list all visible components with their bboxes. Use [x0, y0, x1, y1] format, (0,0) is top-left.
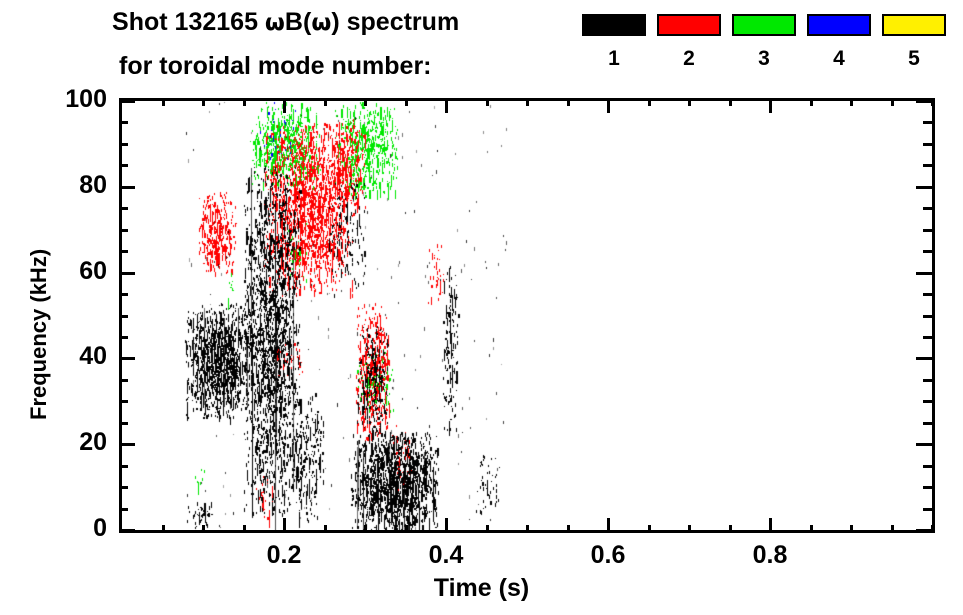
- legend-label-1: 1: [582, 48, 646, 69]
- x-tick-minor-0.35: [405, 525, 408, 533]
- x-tick-top-0.7: [688, 98, 691, 106]
- y-tick-right-30: [923, 400, 932, 403]
- x-tick-top-0.8: [769, 98, 772, 113]
- y-tick-right-100: [916, 100, 932, 103]
- y-tick-right-75: [923, 207, 932, 210]
- y-tick-major-60: [119, 272, 135, 275]
- y-tick-minor-5: [119, 508, 128, 511]
- x-tick-top-0.65: [648, 98, 651, 106]
- legend-item-1[interactable]: 1: [582, 14, 646, 69]
- x-tick-top-0.35: [405, 98, 408, 106]
- legend: 12345: [582, 14, 952, 86]
- x-axis-title: Time (s): [0, 574, 963, 603]
- x-tick-minor-0.1: [202, 525, 205, 533]
- y-tick-right-95: [923, 121, 932, 124]
- x-tick-top-0.05: [162, 98, 165, 106]
- legend-swatch-1: [582, 14, 646, 36]
- x-tick-minor-0.85: [810, 525, 813, 533]
- y-tick-right-5: [923, 508, 932, 511]
- figure-title-line-2: for toroidal mode number:: [119, 52, 432, 81]
- x-tick-top-0.3: [364, 98, 367, 106]
- x-tick-top-0.9: [850, 98, 853, 106]
- x-tick-minor-1: [931, 525, 934, 533]
- x-tick-minor-0.15: [243, 525, 246, 533]
- x-tick-minor-0.3: [364, 525, 367, 533]
- y-tick-minor-65: [119, 250, 128, 253]
- x-tick-minor-0.45: [486, 525, 489, 533]
- y-tick-minor-90: [119, 143, 128, 146]
- x-tick-minor-0.9: [850, 525, 853, 533]
- y-tick-minor-75: [119, 207, 128, 210]
- x-tick-top-0.2: [283, 98, 286, 113]
- y-tick-minor-15: [119, 465, 128, 468]
- legend-swatch-2: [657, 14, 721, 36]
- x-tick-top-0.45: [486, 98, 489, 106]
- y-tick-label-0: 0: [27, 516, 107, 541]
- y-tick-minor-95: [119, 121, 128, 124]
- legend-item-5[interactable]: 5: [882, 14, 946, 69]
- x-tick-major-0.4: [445, 518, 448, 533]
- y-tick-right-85: [923, 164, 932, 167]
- y-tick-right-80: [916, 186, 932, 189]
- y-tick-label-100: 100: [27, 87, 107, 112]
- x-tick-top-1: [931, 98, 934, 106]
- y-tick-right-50: [923, 315, 932, 318]
- y-tick-right-20: [916, 443, 932, 446]
- x-tick-top-0.25: [324, 98, 327, 106]
- spectrogram-figure: Shot 132165 ωB(ω) spectrum for toroidal …: [0, 0, 963, 615]
- plot-frame-right-edge: [932, 98, 935, 533]
- spectrogram-data-area: [122, 101, 932, 530]
- x-tick-top-0.1: [202, 98, 205, 106]
- y-tick-minor-25: [119, 422, 128, 425]
- y-tick-right-35: [923, 379, 932, 382]
- x-tick-top-0.6: [607, 98, 610, 113]
- y-tick-right-70: [923, 229, 932, 232]
- y-tick-right-0: [916, 529, 932, 532]
- figure-title-line-1: Shot 132165 ωB(ω) spectrum: [112, 8, 459, 37]
- legend-label-4: 4: [807, 48, 871, 69]
- x-tick-minor-0.05: [162, 525, 165, 533]
- x-tick-minor-0.25: [324, 525, 327, 533]
- y-tick-minor-30: [119, 400, 128, 403]
- x-tick-label-0.4: 0.4: [401, 543, 491, 568]
- x-tick-top-0.95: [891, 98, 894, 106]
- y-tick-minor-55: [119, 293, 128, 296]
- legend-label-5: 5: [882, 48, 946, 69]
- legend-swatch-5: [882, 14, 946, 36]
- x-tick-label-0.2: 0.2: [239, 543, 329, 568]
- x-tick-label-0.6: 0.6: [563, 543, 653, 568]
- x-tick-minor-0.95: [891, 525, 894, 533]
- y-tick-major-40: [119, 357, 135, 360]
- y-tick-minor-70: [119, 229, 128, 232]
- y-tick-right-90: [923, 143, 932, 146]
- y-tick-right-60: [916, 272, 932, 275]
- spectrogram-canvas: [122, 101, 932, 530]
- y-tick-right-25: [923, 422, 932, 425]
- y-tick-minor-45: [119, 336, 128, 339]
- y-tick-right-55: [923, 293, 932, 296]
- x-tick-top-0.4: [445, 98, 448, 113]
- y-tick-minor-10: [119, 486, 128, 489]
- x-tick-minor-0.5: [526, 525, 529, 533]
- legend-swatch-4: [807, 14, 871, 36]
- legend-label-2: 2: [657, 48, 721, 69]
- y-tick-major-80: [119, 186, 135, 189]
- x-tick-major-0.6: [607, 518, 610, 533]
- legend-item-2[interactable]: 2: [657, 14, 721, 69]
- x-tick-minor-0.7: [688, 525, 691, 533]
- y-tick-major-100: [119, 100, 135, 103]
- y-tick-right-15: [923, 465, 932, 468]
- y-axis-title: Frequency (kHz): [26, 249, 52, 420]
- legend-label-3: 3: [732, 48, 796, 69]
- x-tick-top-0.55: [567, 98, 570, 106]
- legend-item-4[interactable]: 4: [807, 14, 871, 69]
- y-tick-major-0: [119, 529, 135, 532]
- x-tick-top-0.5: [526, 98, 529, 106]
- x-tick-minor-0.55: [567, 525, 570, 533]
- x-tick-major-0.2: [283, 518, 286, 533]
- y-tick-right-65: [923, 250, 932, 253]
- legend-swatch-3: [732, 14, 796, 36]
- y-tick-right-40: [916, 357, 932, 360]
- x-tick-label-0.8: 0.8: [725, 543, 815, 568]
- x-tick-top-0.15: [243, 98, 246, 106]
- x-tick-major-0.8: [769, 518, 772, 533]
- y-tick-minor-35: [119, 379, 128, 382]
- x-tick-minor-0.75: [729, 525, 732, 533]
- legend-item-3[interactable]: 3: [732, 14, 796, 69]
- y-tick-minor-50: [119, 315, 128, 318]
- y-tick-right-10: [923, 486, 932, 489]
- y-tick-major-20: [119, 443, 135, 446]
- y-tick-right-45: [923, 336, 932, 339]
- x-tick-minor-0.65: [648, 525, 651, 533]
- x-tick-top-0.85: [810, 98, 813, 106]
- y-tick-label-20: 20: [27, 430, 107, 455]
- y-tick-minor-85: [119, 164, 128, 167]
- x-tick-top-0.75: [729, 98, 732, 106]
- y-tick-label-80: 80: [27, 173, 107, 198]
